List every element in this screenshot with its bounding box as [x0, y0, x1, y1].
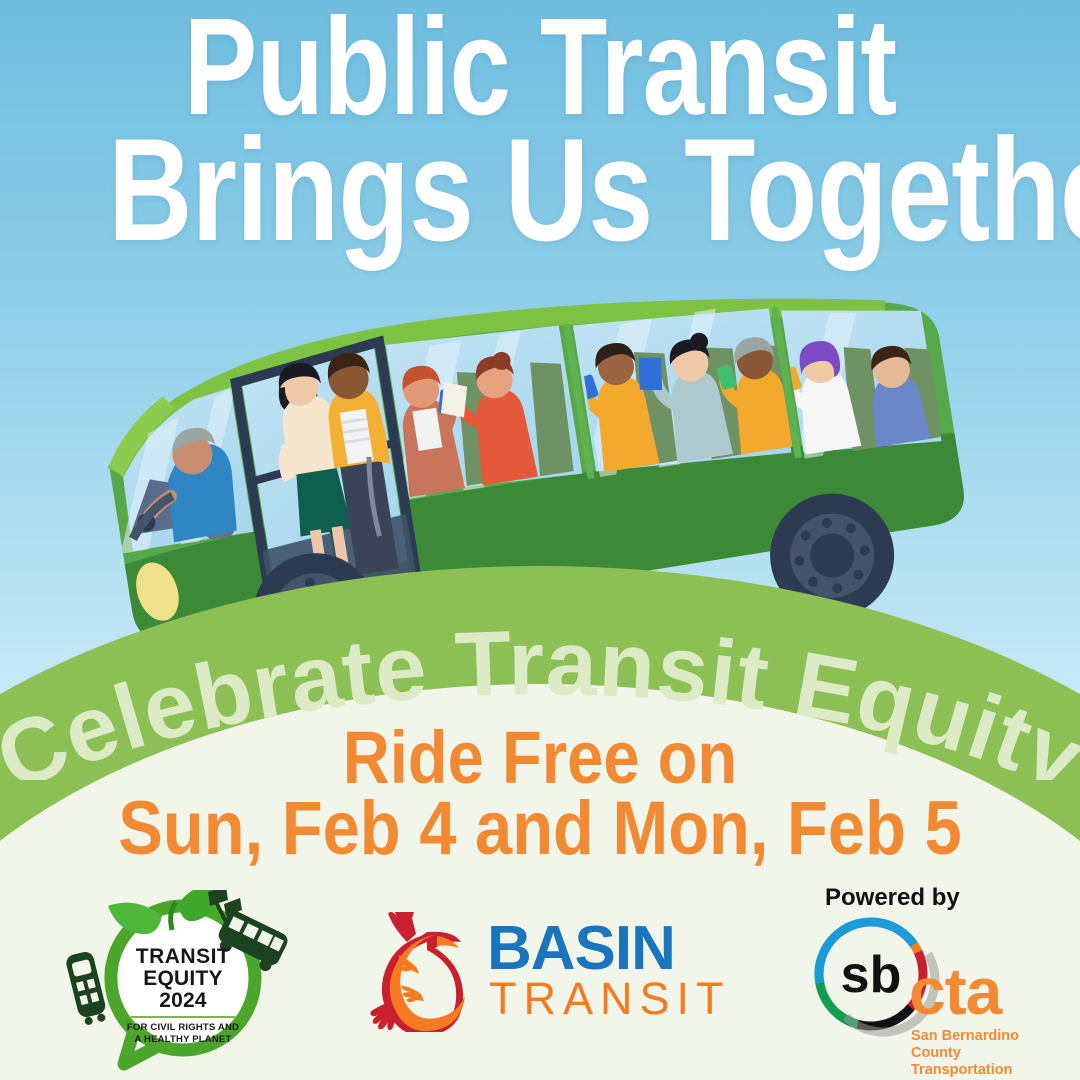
te-line-1: TRANSIT [124, 946, 242, 968]
transit-equity-2024-logo: TRANSIT EQUITY 2024 FOR CIVIL RIGHTS AND… [38, 890, 308, 1075]
te-line-2: EQUITY 2024 [124, 968, 242, 1012]
sbcta-subtitle: San Bernardino County Transportation Aut… [911, 1028, 1060, 1080]
te-tagline-1: FOR CIVIL RIGHTS AND [124, 1022, 242, 1033]
logo-row: TRANSIT EQUITY 2024 FOR CIVIL RIGHTS AND… [0, 880, 1080, 1080]
sbcta-subtitle-line-1: San Bernardino County [911, 1028, 1060, 1062]
te-tagline-2: A HEALTHY PLANET [124, 1034, 242, 1045]
basin-wordmark: BASIN [487, 918, 675, 980]
basin-transit-logo: BASIN TRANSIT [365, 912, 705, 1032]
train-icon [64, 950, 109, 1027]
sb-mark-text: sb [841, 946, 902, 1004]
cta-wordmark: cta [909, 958, 1001, 1024]
transit-equity-text-block: TRANSIT EQUITY 2024 FOR CIVIL RIGHTS AND… [124, 946, 242, 1045]
transit-wordmark: TRANSIT [489, 976, 731, 1021]
poster-canvas: Public Transit Brings Us Together [0, 0, 1080, 1080]
promo-line-2: Sun, Feb 4 and Mon, Feb 5 [65, 793, 1015, 866]
sbcta-subtitle-line-2: Transportation Authority [911, 1062, 1060, 1080]
sbcta-logo: Powered by sb cta San Bernardino County [805, 880, 1060, 1070]
promo-text: Ride Free on Sun, Feb 4 and Mon, Feb 5 [65, 722, 1015, 866]
te-divider [131, 1016, 235, 1018]
